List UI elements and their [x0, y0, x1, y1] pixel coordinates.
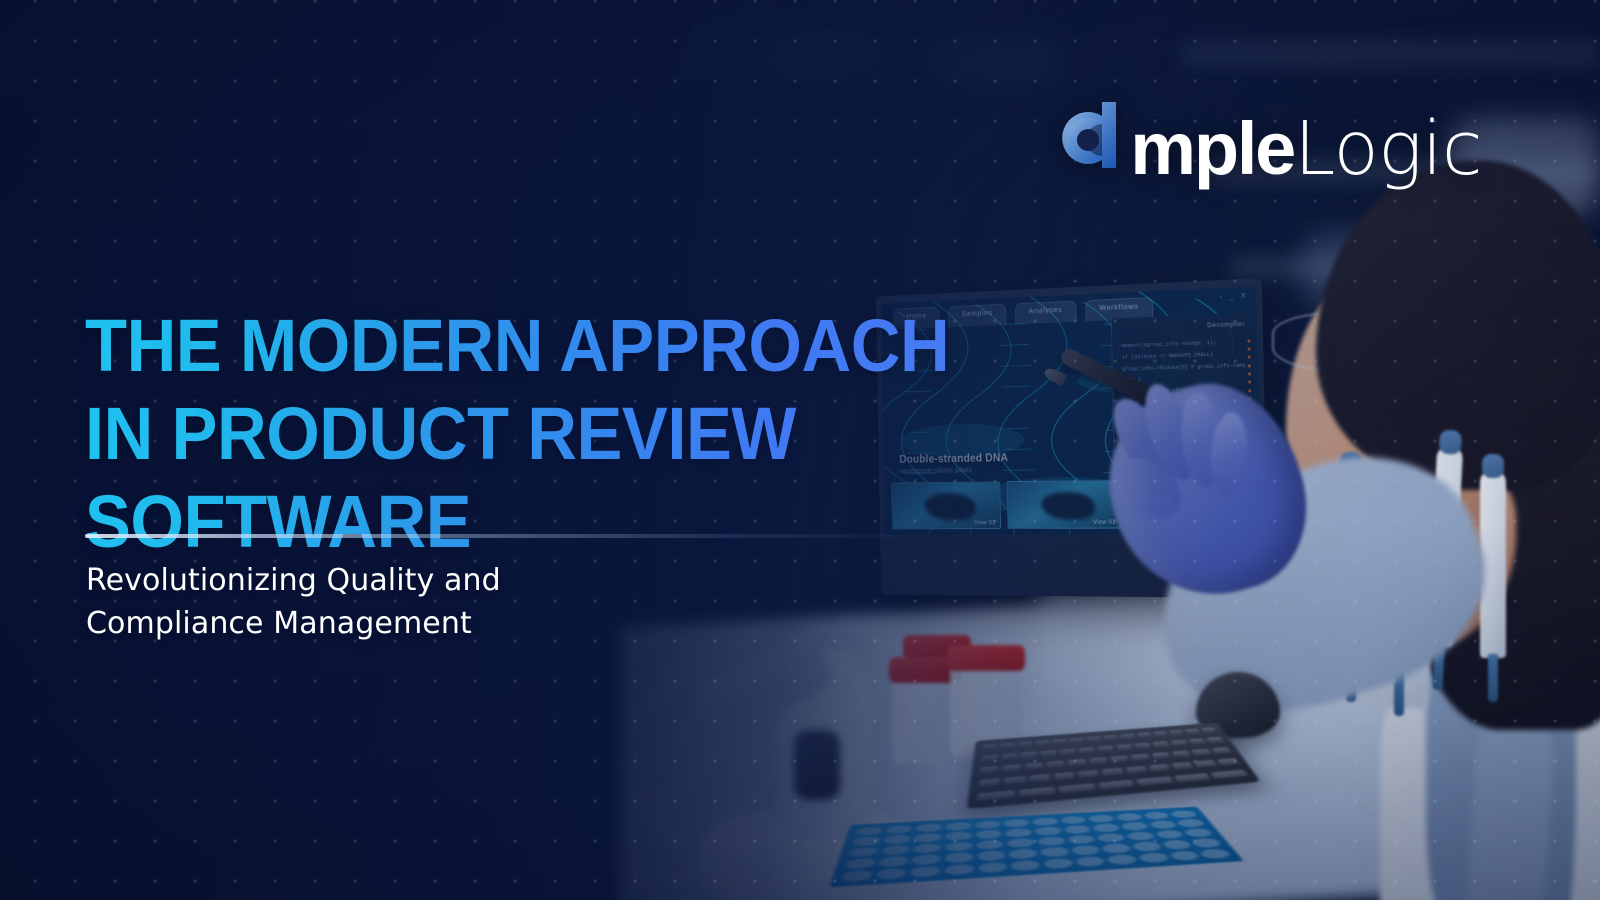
page-subtitle: Revolutionizing Quality and Compliance M… [86, 560, 706, 645]
ample-a-monogram-icon [1058, 96, 1140, 174]
hero-content: mple Logic The Modern Approach in Produc… [0, 0, 1600, 900]
logo-wordmark-light: Logic [1294, 116, 1482, 183]
page-title: The Modern Approach in Product Review So… [85, 302, 1024, 566]
hero-banner: Home Samples Analyses Workflows ▫ _ X Do… [0, 0, 1600, 900]
title-divider [85, 534, 925, 538]
subtitle-line-1: Revolutionizing Quality and [86, 560, 706, 603]
logo-wordmark-bold: mple [1130, 116, 1294, 183]
amplelogic-logo[interactable]: mple Logic [1058, 96, 1482, 183]
subtitle-line-2: Compliance Management [86, 603, 706, 646]
